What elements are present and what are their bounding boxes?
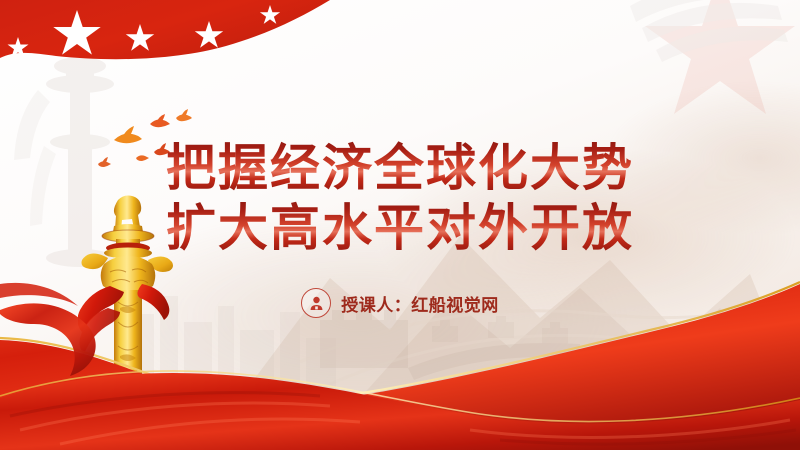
presentation-cover-slide: 把握经济全球化大势 扩大高水平对外开放 授课人：红船视觉网 (0, 0, 800, 450)
red-star-banner (0, 0, 420, 110)
title-line-1: 把握经济全球化大势 (0, 138, 800, 198)
dove-icon (150, 114, 170, 127)
title-line-2: 扩大高水平对外开放 (0, 198, 800, 258)
person-icon (301, 288, 331, 318)
presenter-row: 授课人：红船视觉网 (0, 288, 800, 318)
title-block: 把握经济全球化大势 扩大高水平对外开放 (0, 138, 800, 258)
dove-icon (176, 109, 192, 121)
presenter-label: 授课人：红船视觉网 (341, 291, 499, 316)
